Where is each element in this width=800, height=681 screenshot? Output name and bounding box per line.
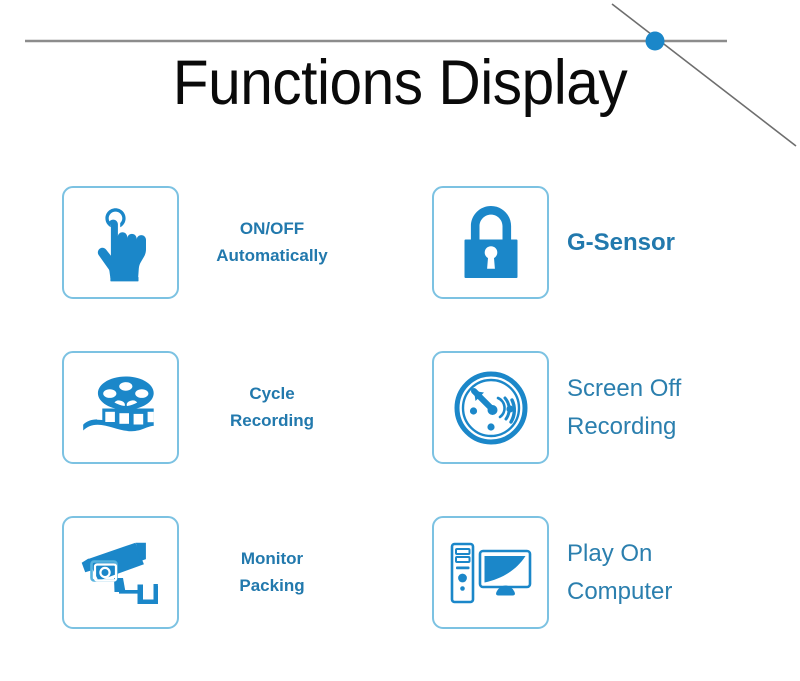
- feature-label-line: Recording: [567, 408, 681, 445]
- feature-label-line: Recording: [197, 408, 347, 434]
- functions-display-slide: Functions Display ON/OFF: [0, 0, 800, 668]
- feature-on-off-automatically[interactable]: ON/OFF Automatically: [0, 186, 385, 299]
- feature-label: G-Sensor: [567, 224, 675, 261]
- feature-label-line: ON/OFF: [197, 216, 347, 242]
- feature-label-line: Play On: [567, 535, 672, 572]
- page-title: Functions Display: [28, 52, 772, 115]
- icon-box[interactable]: [432, 516, 549, 629]
- feature-label: Play On Computer: [567, 535, 672, 609]
- feature-label: ON/OFF Automatically: [197, 216, 347, 269]
- feature-label: Screen Off Recording: [567, 370, 681, 444]
- feature-label-line: Monitor: [197, 546, 347, 572]
- icon-box[interactable]: [432, 186, 549, 299]
- feature-screen-off-recording[interactable]: Screen Off Recording: [385, 351, 800, 464]
- feature-label: Cycle Recording: [197, 381, 347, 434]
- cctv-camera-icon: [78, 538, 164, 608]
- feature-label-line: G-Sensor: [567, 224, 675, 261]
- features-grid: ON/OFF Automatically: [0, 186, 800, 681]
- icon-box[interactable]: [62, 351, 179, 464]
- feature-cycle-recording[interactable]: Cycle Recording: [0, 351, 385, 464]
- touch-hand-icon: [85, 204, 157, 282]
- feature-row: Cycle Recording: [0, 351, 800, 516]
- icon-box[interactable]: [62, 186, 179, 299]
- feature-monitor-packing[interactable]: Monitor Packing: [0, 516, 385, 629]
- icon-box[interactable]: [62, 516, 179, 629]
- gauge-speedometer-icon: [451, 368, 531, 448]
- feature-g-sensor[interactable]: G-Sensor: [385, 186, 800, 299]
- feature-row: Monitor Packing: [0, 516, 800, 681]
- feature-label: Monitor Packing: [197, 546, 347, 599]
- feature-label-line: Packing: [197, 573, 347, 599]
- feature-label-line: Screen Off: [567, 370, 681, 407]
- feature-play-on-computer[interactable]: Play On Computer: [385, 516, 800, 629]
- icon-box[interactable]: [432, 351, 549, 464]
- blue-dot-accent: [646, 32, 665, 51]
- film-reel-icon: [79, 372, 163, 444]
- desktop-computer-icon: [449, 539, 533, 607]
- feature-label-line: Automatically: [197, 243, 347, 269]
- feature-label-line: Cycle: [197, 381, 347, 407]
- feature-row: ON/OFF Automatically: [0, 186, 800, 351]
- feature-label-line: Computer: [567, 573, 672, 610]
- padlock-icon: [456, 203, 526, 283]
